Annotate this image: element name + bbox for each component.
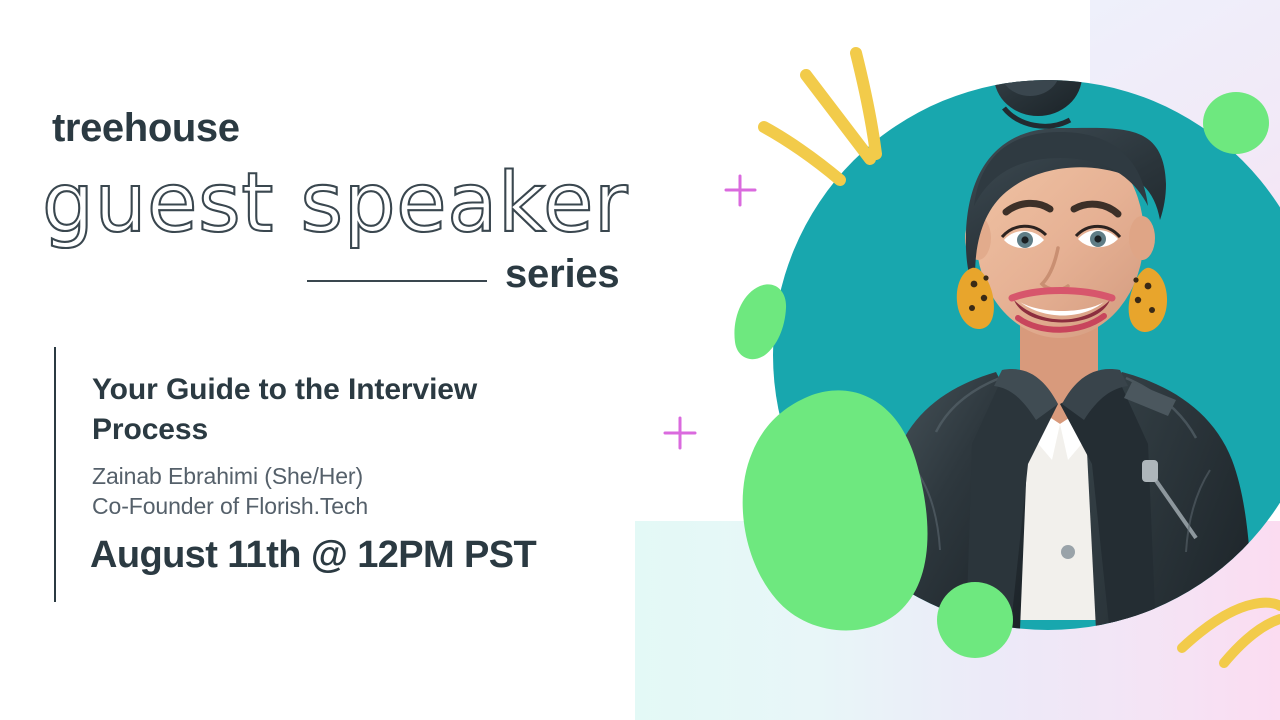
treehouse-wordmark: treehouse bbox=[52, 108, 240, 148]
magenta-plus-lower bbox=[665, 418, 695, 448]
series-divider bbox=[307, 280, 487, 282]
page-title: guest speaker bbox=[42, 163, 628, 245]
green-dot-upper-right bbox=[1203, 92, 1269, 154]
speaker-role: Co-Founder of Florish.Tech bbox=[92, 491, 368, 522]
yellow-squiggle-lines bbox=[1182, 603, 1280, 663]
promo-slide: treehouse guest speaker series Your Guid… bbox=[0, 0, 1280, 720]
green-dot-bottom bbox=[937, 582, 1013, 658]
event-datetime: August 11th @ 12PM PST bbox=[90, 536, 536, 574]
green-blob-large bbox=[743, 390, 928, 630]
talk-title: Your Guide to the Interview Process bbox=[92, 370, 572, 449]
detail-accent-rule bbox=[54, 347, 56, 602]
magenta-plus-upper bbox=[726, 176, 755, 205]
speaker-name: Zainab Ebrahimi (She/Her) bbox=[92, 461, 363, 492]
series-label: series bbox=[505, 254, 619, 294]
